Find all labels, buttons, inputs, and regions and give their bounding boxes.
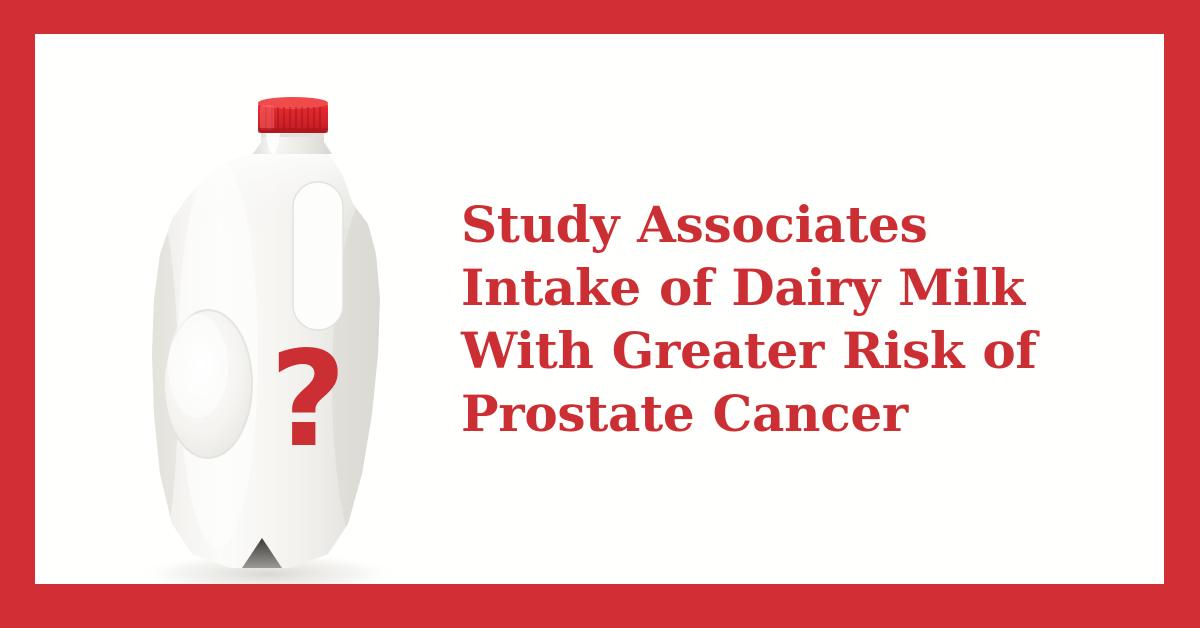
headline: Study Associates Intake of Dairy Milk Wi… [461,193,1101,445]
headline-line-1: Study Associates [461,193,1101,256]
headline-line-2: Intake of Dairy Milk [461,256,1101,319]
milk-jug-illustration: ? [110,54,470,584]
jug-oval-indent [164,310,252,458]
banner-canvas: ? Study Associates Intake of Dairy Milk … [35,34,1164,584]
article-banner: ? Study Associates Intake of Dairy Milk … [0,0,1200,628]
headline-line-4: Prostate Cancer [461,382,1101,445]
jug-cap [258,97,328,133]
question-mark-overlay: ? [268,330,348,470]
headline-line-3: With Greater Risk of [461,319,1101,382]
jug-handle [293,182,343,330]
